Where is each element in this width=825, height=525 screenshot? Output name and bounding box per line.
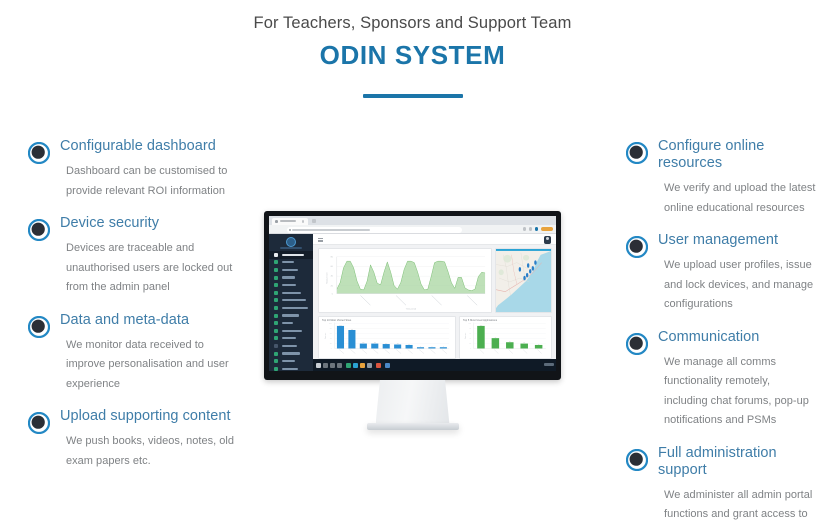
feature-item-communication: Communication We manage all comms functi…: [626, 329, 816, 431]
svg-text:20: 20: [385, 343, 387, 344]
sidebar-item-label: [282, 284, 296, 286]
feature-column-right: Configure online resources We verify and…: [626, 138, 816, 525]
logo-wordmark: [280, 247, 302, 249]
window-controls[interactable]: [537, 219, 553, 222]
taskbar-icon-search[interactable]: [323, 363, 328, 368]
menu-icon: [274, 352, 278, 356]
feature-item-data-and-meta-data: Data and meta-data We monitor data recei…: [28, 312, 243, 395]
svg-text:40: 40: [469, 338, 471, 340]
feature-column-left: Configurable dashboard Dashboard can be …: [28, 138, 243, 485]
new-tab-button[interactable]: [312, 219, 316, 223]
profile-icon[interactable]: [535, 227, 538, 230]
dashboard-app: 0 20 40 60 80 Measurement: [269, 234, 556, 371]
taskbar-icon-app5[interactable]: [376, 363, 381, 368]
menu-icon: [274, 336, 278, 340]
svg-text:22: 22: [362, 342, 364, 343]
widget-area-chart: 0 20 40 60 80 Measurement: [318, 248, 492, 313]
sidebar-item-03[interactable]: [269, 274, 313, 282]
svg-text:100: 100: [329, 323, 332, 324]
dashboard-sidebar: [269, 234, 313, 371]
feature-description: We administer all admin portal functions…: [664, 486, 816, 525]
feature-title: Upload supporting content: [60, 408, 243, 425]
menu-icon: [274, 329, 278, 333]
bullet-circle-icon: [626, 449, 648, 471]
menu-icon: [274, 321, 278, 325]
feature-item-full-administration-support: Full administration support We administe…: [626, 445, 816, 525]
svg-text:80: 80: [331, 257, 333, 259]
page-title: ODIN SYSTEM: [0, 34, 825, 71]
sidebar-item-04[interactable]: [269, 281, 313, 289]
sidebar-item-label: [282, 292, 301, 294]
bullet-circle-icon: [626, 236, 648, 258]
dashboard-topbar: [313, 234, 556, 245]
bullet-circle-icon: [626, 333, 648, 355]
sidebar-item-07[interactable]: [269, 304, 313, 312]
feature-description: We monitor data received to improve pers…: [66, 336, 243, 395]
taskbar-icon-app1[interactable]: [346, 363, 351, 368]
taskbar-clock[interactable]: [544, 363, 554, 366]
sidebar-item-15[interactable]: [269, 365, 313, 371]
sidebar-item-11[interactable]: [269, 335, 313, 343]
sidebar-item-label: [282, 345, 297, 347]
title-divider: [363, 94, 463, 98]
feature-title: Full administration support: [658, 445, 816, 479]
taskbar-icon-app6[interactable]: [385, 363, 390, 368]
start-button-icon[interactable]: [316, 363, 321, 368]
close-icon[interactable]: [302, 220, 304, 222]
monitor-base: [367, 423, 459, 430]
os-taskbar: [313, 359, 556, 371]
svg-text:100: 100: [468, 323, 471, 325]
feature-description: Devices are traceable and unauthorised u…: [66, 239, 243, 298]
sidebar-item-02[interactable]: [269, 266, 313, 274]
sidebar-item-08[interactable]: [269, 312, 313, 320]
sidebar-item-label: [282, 330, 302, 332]
feature-title: Configure online resources: [658, 138, 816, 172]
svg-text:20: 20: [330, 343, 332, 344]
menu-icon: [274, 283, 278, 287]
svg-text:20: 20: [331, 285, 333, 287]
menu-icon: [274, 260, 278, 264]
taskbar-icon-explorer[interactable]: [337, 363, 342, 368]
svg-text:Time period: Time period: [406, 309, 416, 311]
map-svg: [496, 249, 551, 312]
sidebar-item-14[interactable]: [269, 357, 313, 365]
monitor-mockup: 0 20 40 60 80 Measurement: [264, 211, 561, 380]
sidebar-item-13[interactable]: [269, 350, 313, 358]
sidebar-item-label: [282, 254, 304, 256]
bullet-circle-icon: [28, 316, 50, 338]
area-chart-svg: 0 20 40 60 80 Measurement: [319, 249, 491, 312]
sidebar-item-05[interactable]: [269, 289, 313, 297]
feature-title: User management: [658, 232, 816, 249]
svg-text:20: 20: [469, 343, 471, 345]
menu-icon: [274, 291, 278, 295]
menu-icon: [274, 359, 278, 363]
taskbar-icon-app3[interactable]: [360, 363, 365, 368]
svg-text:18: 18: [397, 343, 399, 344]
browser-tab-title: [280, 220, 296, 223]
widget-bar-chart-green: Top 5 Most Used Applications: [459, 316, 552, 359]
bullet-circle-icon: [28, 219, 50, 241]
sidebar-item-label: [282, 337, 296, 339]
svg-text:100: 100: [339, 325, 342, 326]
feature-item-user-management: User management We upload user profiles,…: [626, 232, 816, 315]
svg-text:22: 22: [374, 342, 376, 343]
menu-icon: [274, 314, 278, 318]
feature-description: Dashboard can be customised to provide r…: [66, 162, 243, 201]
sidebar-item-label: [282, 276, 295, 278]
dashboard-widgets: 0 20 40 60 80 Measurement: [318, 248, 552, 359]
sidebar-item-dashboard[interactable]: [269, 251, 313, 259]
taskbar-icon-app4[interactable]: [367, 363, 372, 368]
svg-text:80: 80: [469, 328, 471, 330]
svg-text:40: 40: [330, 338, 332, 339]
svg-text:82: 82: [351, 329, 353, 330]
browser-action-button[interactable]: [541, 227, 553, 231]
svg-text:80: 80: [330, 328, 332, 329]
monitor-stand: [376, 380, 450, 425]
sidebar-item-09[interactable]: [269, 319, 313, 327]
sidebar-item-label: [282, 360, 295, 362]
svg-text:40: 40: [331, 276, 333, 278]
bullet-circle-icon: [626, 142, 648, 164]
monitor-screen: 0 20 40 60 80 Measurement: [269, 216, 556, 371]
favicon-icon: [275, 220, 278, 223]
sidebar-item-06[interactable]: [269, 297, 313, 305]
feature-item-configurable-dashboard: Configurable dashboard Dashboard can be …: [28, 138, 243, 201]
svg-text:0: 0: [470, 348, 471, 350]
feature-title: Data and meta-data: [60, 312, 243, 329]
widget-bar-chart-blue: Top 10 Most Visited Sites: [318, 316, 456, 359]
sidebar-item-label: [282, 269, 298, 271]
lock-icon: [289, 229, 291, 231]
sidebar-item-label: [282, 368, 298, 370]
sidebar-item-label: [282, 314, 299, 316]
page-header: For Teachers, Sponsors and Support Team …: [0, 0, 825, 98]
svg-text:16: 16: [408, 344, 410, 345]
browser-tab[interactable]: [272, 218, 308, 226]
taskbar-icon-taskview[interactable]: [330, 363, 335, 368]
menu-icon: [274, 298, 278, 302]
extensions-icon[interactable]: [523, 227, 526, 230]
bullet-circle-icon: [28, 142, 50, 164]
feature-item-configure-online-resources: Configure online resources We verify and…: [626, 138, 816, 218]
feature-description: We verify and upload the latest online e…: [664, 179, 816, 218]
menu-icon: [274, 367, 278, 371]
svg-text:Measurement: Measurement: [323, 332, 327, 338]
feature-title: Device security: [60, 215, 243, 232]
sidebar-item-label: [282, 299, 306, 301]
feature-item-upload-supporting-content: Upload supporting content We push books,…: [28, 408, 243, 471]
svg-text:Measurement: Measurement: [464, 332, 468, 339]
page-subtitle: For Teachers, Sponsors and Support Team: [0, 0, 825, 34]
logo-mark-icon: [286, 237, 296, 247]
hamburger-menu-icon[interactable]: [318, 238, 323, 242]
sidebar-logo: [269, 234, 313, 251]
browser-tab-bar: [269, 216, 556, 225]
menu-icon: [274, 276, 278, 280]
svg-text:6: 6: [431, 346, 432, 347]
sidebar-item-label: [282, 307, 308, 309]
svg-text:100: 100: [480, 325, 483, 327]
svg-text:60: 60: [330, 333, 332, 334]
bullet-circle-icon: [28, 412, 50, 434]
menu-icon: [274, 306, 278, 310]
feature-description: We push books, videos, notes, old exam p…: [66, 432, 243, 471]
monitor-bezel: 0 20 40 60 80 Measurement: [264, 211, 561, 380]
browser-address-bar: [269, 225, 556, 234]
taskbar-icon-app2[interactable]: [353, 363, 358, 368]
dashboard-icon: [274, 253, 278, 257]
menu-icon: [274, 268, 278, 272]
dashboard-main: 0 20 40 60 80 Measurement: [313, 234, 556, 371]
bar-chart-blue-svg: 100822222201816666 0 20 40 60 80: [319, 317, 455, 358]
widget-map[interactable]: [495, 248, 552, 313]
feature-description: We upload user profiles, issue and lock …: [664, 256, 816, 315]
feature-description: We manage all comms functionality remote…: [664, 353, 816, 431]
svg-text:6: 6: [443, 346, 444, 347]
bookmark-icon[interactable]: [529, 227, 532, 230]
sidebar-item-01[interactable]: [269, 259, 313, 267]
feature-item-device-security: Device security Devices are traceable an…: [28, 215, 243, 298]
address-input[interactable]: [287, 227, 462, 233]
sidebar-item-label: [282, 261, 294, 263]
svg-text:0: 0: [332, 294, 333, 296]
page-root: For Teachers, Sponsors and Support Team …: [0, 0, 825, 525]
svg-text:Measurement: Measurement: [325, 272, 328, 284]
sidebar-item-12[interactable]: [269, 342, 313, 350]
feature-title: Communication: [658, 329, 816, 346]
menu-icon: [274, 344, 278, 348]
sidebar-item-10[interactable]: [269, 327, 313, 335]
avatar[interactable]: [544, 236, 551, 244]
svg-text:0: 0: [331, 348, 332, 349]
bar-chart-green-svg: 10046282216 0 20 40 60 80: [460, 317, 551, 358]
svg-text:60: 60: [331, 266, 333, 268]
address-value: [292, 229, 370, 231]
svg-text:60: 60: [469, 333, 471, 335]
sidebar-item-label: [282, 352, 300, 354]
svg-text:6: 6: [420, 346, 421, 347]
feature-title: Configurable dashboard: [60, 138, 243, 155]
sidebar-item-label: [282, 322, 293, 324]
